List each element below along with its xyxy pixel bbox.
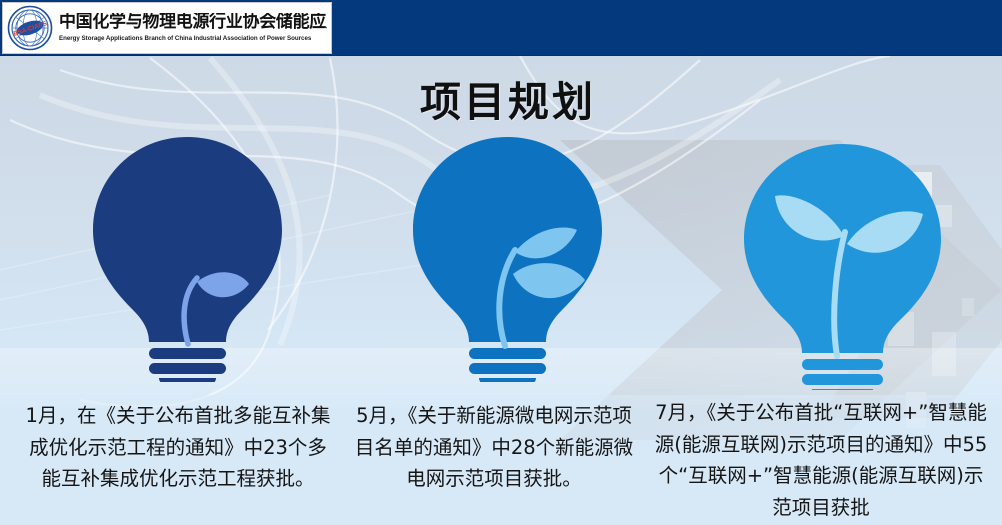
- bulb-tip-3: [812, 389, 873, 390]
- bulb-ring-2b: [469, 363, 546, 374]
- caption-text-3: 7月，《关于公布首批“互联网+”智慧能源(能源互联网)示范项目的通知》中55个“…: [652, 397, 990, 523]
- bulb-glass-2: [413, 137, 602, 342]
- lightbulb-svg-3: [735, 140, 950, 390]
- esa-ciaps-circular-emblem: ESA-CIAPS: [7, 5, 53, 51]
- caption-text-2: 5月，《关于新能源微电网示范项目名单的通知》中28个新能源微电网示范项目获批。: [348, 400, 640, 495]
- logo-text-group: 中国化学与物理电源行业协会储能应用分会 Energy Storage Appli…: [59, 13, 327, 42]
- header-bar: ESA-CIAPS 中国化学与物理电源行业协会储能应用分会 Energy Sto…: [0, 0, 1002, 55]
- lightbulb-svg-2: [405, 132, 610, 382]
- lightbulb-svg-1: [85, 132, 290, 382]
- emblem-svg: ESA-CIAPS: [7, 5, 53, 51]
- bulb-ring-1a: [149, 348, 226, 359]
- bulb-ring-2a: [469, 348, 546, 359]
- organization-logo: ESA-CIAPS 中国化学与物理电源行业协会储能应用分会 Energy Sto…: [2, 2, 332, 54]
- caption-text-1: 1月，在《关于公布首批多能互补集成优化示范工程的通知》中23个多能互补集成优化示…: [22, 400, 334, 495]
- bulb-ring-1b: [149, 363, 226, 374]
- page-title: 项目规划: [420, 68, 596, 128]
- bulb-ring-3b: [802, 374, 883, 385]
- bulb-tip-1: [159, 378, 216, 382]
- bulb-glass-1: [93, 137, 282, 342]
- lightbulb-stage-3: [735, 140, 950, 395]
- bulb-tip-2: [479, 378, 536, 382]
- organization-name-en: Energy Storage Applications Branch of Ch…: [59, 35, 327, 42]
- organization-name-cn: 中国化学与物理电源行业协会储能应用分会: [59, 13, 319, 32]
- lightbulb-stage-1: [85, 132, 290, 387]
- lightbulb-stage-2: [405, 132, 610, 387]
- bulb-ring-3a: [802, 359, 883, 370]
- slide-canvas: ESA-CIAPS 中国化学与物理电源行业协会储能应用分会 Energy Sto…: [0, 0, 1002, 525]
